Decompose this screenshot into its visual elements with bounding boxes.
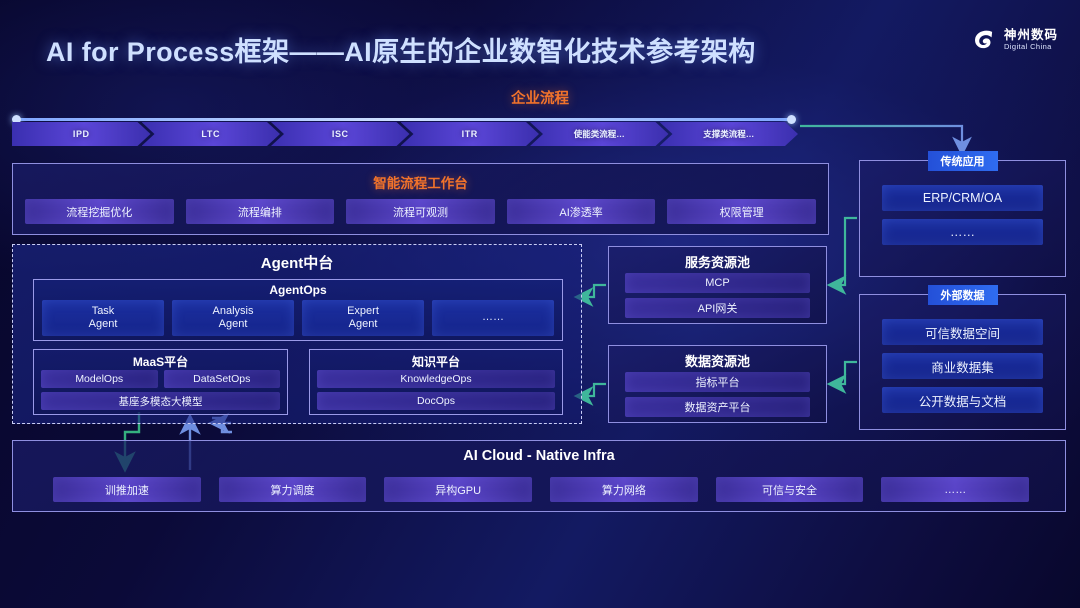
infra-title: AI Cloud - Native Infra (13, 448, 1065, 464)
process-step-label: IPD (73, 129, 90, 139)
agent-card-line1: Expert (347, 305, 379, 318)
brand-logo: 神州数码 Digital China (971, 27, 1058, 53)
agent-card-line1: Task (92, 305, 115, 318)
logo-text-en: Digital China (1004, 43, 1058, 51)
swirl-logo-icon (971, 27, 997, 53)
external-data-badge: 外部数据 (928, 285, 998, 305)
agentops-items: Task Agent Analysis Agent Expert Agent …… (42, 300, 554, 336)
maas-item-foundation-model[interactable]: 基座多模态大模型 (41, 392, 280, 410)
agentops-title: AgentOps (34, 283, 562, 297)
external-data-item-public-docs[interactable]: 公开数据与文档 (882, 387, 1043, 413)
external-data-item-trusted-space[interactable]: 可信数据空间 (882, 319, 1043, 345)
legacy-app-item-erp[interactable]: ERP/CRM/OA (882, 185, 1043, 211)
external-data-item-commercial[interactable]: 商业数据集 (882, 353, 1043, 379)
wire-datapool-to-agent (578, 384, 606, 396)
process-step-label: LTC (201, 129, 220, 139)
agent-card-line2: Agent (89, 318, 118, 331)
infra-item-train-infer-accel[interactable]: 训推加速 (53, 477, 201, 502)
knowledge-row1: KnowledgeOps (317, 370, 555, 388)
maas-platform-box: MaaS平台 ModelOps DataSetOps 基座多模态大模型 (33, 349, 288, 415)
maas-row2: 基座多模态大模型 (41, 392, 280, 410)
data-pool-panel: 数据资源池 指标平台 数据资产平台 (608, 345, 827, 423)
infra-panel: AI Cloud - Native Infra 训推加速 算力调度 异构GPU … (12, 440, 1066, 512)
process-step-isc[interactable]: ISC (271, 122, 410, 146)
workbench-item-mining[interactable]: 流程挖掘优化 (25, 199, 174, 224)
process-flow-title: 企业流程 (0, 87, 1080, 108)
process-step-label: 使能类流程… (574, 128, 625, 140)
agent-card-task[interactable]: Task Agent (42, 300, 164, 336)
workbench-item-ai-penetration[interactable]: AI渗透率 (507, 199, 656, 224)
service-pool-items: MCP API网关 (625, 273, 810, 323)
process-step-itr[interactable]: ITR (401, 122, 540, 146)
knowledge-platform-box: 知识平台 KnowledgeOps DocOps (309, 349, 563, 415)
workbench-title: 智能流程工作台 (13, 172, 828, 192)
infra-items: 训推加速 算力调度 异构GPU 算力网络 可信与安全 …… (53, 477, 1029, 502)
process-step-ipd[interactable]: IPD (12, 122, 151, 146)
maas-title: MaaS平台 (34, 353, 287, 370)
process-step-support[interactable]: 支撑类流程… (660, 122, 799, 146)
process-step-enablement[interactable]: 使能类流程… (530, 122, 669, 146)
knowledge-row2: DocOps (317, 392, 555, 410)
infra-item-compute-scheduling[interactable]: 算力调度 (219, 477, 367, 502)
agent-card-analysis[interactable]: Analysis Agent (172, 300, 294, 336)
agentops-box: AgentOps Task Agent Analysis Agent Exper… (33, 279, 563, 341)
logo-text-cn: 神州数码 (1004, 29, 1058, 42)
legacy-app-item-more[interactable]: …… (882, 219, 1043, 245)
process-step-label: ISC (332, 129, 349, 139)
process-steps: IPD LTC ISC ITR 使能类流程… 支撑类流程… (12, 122, 798, 146)
agent-card-line2: Agent (349, 318, 378, 331)
data-pool-items: 指标平台 数据资产平台 (625, 372, 810, 422)
maas-row1: ModelOps DataSetOps (41, 370, 280, 388)
agent-card-line1: Analysis (213, 305, 254, 318)
wire-extdata-to-datapool (831, 362, 857, 384)
data-pool-title: 数据资源池 (609, 351, 826, 370)
workbench-item-orchestration[interactable]: 流程编排 (186, 199, 335, 224)
agent-card-more[interactable]: …… (432, 300, 554, 336)
wire-process-to-legacy (800, 126, 962, 152)
agent-card-expert[interactable]: Expert Agent (302, 300, 424, 336)
knowledge-item-knowledgeops[interactable]: KnowledgeOps (317, 370, 555, 388)
service-pool-title: 服务资源池 (609, 252, 826, 271)
infra-item-trust-security[interactable]: 可信与安全 (716, 477, 864, 502)
legacy-apps-badge: 传统应用 (928, 151, 998, 171)
workbench-items: 流程挖掘优化 流程编排 流程可观测 AI渗透率 权限管理 (25, 199, 816, 224)
process-step-ltc[interactable]: LTC (142, 122, 281, 146)
slide-canvas: AI for Process框架——AI原生的企业数智化技术参考架构 神州数码 … (0, 0, 1080, 608)
workbench-item-observability[interactable]: 流程可观测 (346, 199, 495, 224)
workbench-item-permissions[interactable]: 权限管理 (667, 199, 816, 224)
legacy-apps-panel: 传统应用 ERP/CRM/OA …… (859, 160, 1066, 277)
process-step-label: 支撑类流程… (703, 128, 754, 140)
agent-card-line1: …… (482, 311, 504, 324)
service-pool-panel: 服务资源池 MCP API网关 (608, 246, 827, 324)
external-data-panel: 外部数据 可信数据空间 商业数据集 公开数据与文档 (859, 294, 1066, 430)
wire-legacy-to-svcpool (831, 218, 857, 285)
knowledge-item-docops[interactable]: DocOps (317, 392, 555, 410)
knowledge-title: 知识平台 (310, 353, 562, 370)
external-data-items: 可信数据空间 商业数据集 公开数据与文档 (882, 319, 1043, 421)
page-title: AI for Process框架——AI原生的企业数智化技术参考架构 (46, 30, 756, 69)
data-pool-item-metrics[interactable]: 指标平台 (625, 372, 810, 392)
process-step-label: ITR (462, 129, 478, 139)
infra-item-more[interactable]: …… (881, 477, 1029, 502)
agent-platform-title: Agent中台 (13, 252, 581, 273)
service-pool-item-api-gateway[interactable]: API网关 (625, 298, 810, 318)
infra-item-heterogeneous-gpu[interactable]: 异构GPU (384, 477, 532, 502)
agent-card-line2: Agent (219, 318, 248, 331)
service-pool-item-mcp[interactable]: MCP (625, 273, 810, 293)
maas-item-datasetops[interactable]: DataSetOps (164, 370, 281, 388)
agent-platform-panel: Agent中台 AgentOps Task Agent Analysis Age… (12, 244, 582, 424)
maas-item-modelops[interactable]: ModelOps (41, 370, 158, 388)
wire-svcpool-to-agent (578, 285, 606, 297)
legacy-apps-items: ERP/CRM/OA …… (882, 185, 1043, 253)
workbench-panel: 智能流程工作台 流程挖掘优化 流程编排 流程可观测 AI渗透率 权限管理 (12, 163, 829, 235)
infra-item-compute-network[interactable]: 算力网络 (550, 477, 698, 502)
data-pool-item-data-asset[interactable]: 数据资产平台 (625, 397, 810, 417)
rail-bar (17, 118, 791, 121)
